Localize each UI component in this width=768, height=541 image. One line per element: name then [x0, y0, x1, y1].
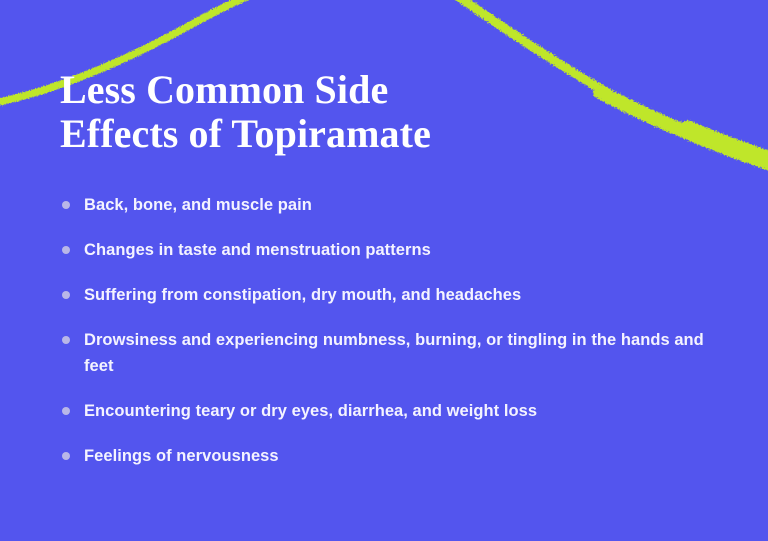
list-item: Drowsiness and experiencing numbness, bu… [58, 327, 718, 379]
list-item-label: Encountering teary or dry eyes, diarrhea… [84, 398, 718, 424]
bullet-dot-icon [62, 201, 70, 209]
list-item-label: Back, bone, and muscle pain [84, 192, 718, 218]
bullet-dot-icon [62, 246, 70, 254]
list-item: Suffering from constipation, dry mouth, … [58, 282, 718, 308]
list-item-label: Drowsiness and experiencing numbness, bu… [84, 327, 718, 379]
list-item: Encountering teary or dry eyes, diarrhea… [58, 398, 718, 424]
list-item-label: Changes in taste and menstruation patter… [84, 237, 718, 263]
bullet-dot-icon [62, 291, 70, 299]
list-item: Changes in taste and menstruation patter… [58, 237, 718, 263]
page-title: Less Common Side Effects of Topiramate [60, 68, 620, 156]
list-item: Back, bone, and muscle pain [58, 192, 718, 218]
list-item-label: Feelings of nervousness [84, 443, 718, 469]
bullet-dot-icon [62, 407, 70, 415]
list-item-label: Suffering from constipation, dry mouth, … [84, 282, 718, 308]
list-item: Feelings of nervousness [58, 443, 718, 469]
side-effects-list: Back, bone, and muscle pain Changes in t… [58, 192, 718, 469]
bullet-dot-icon [62, 336, 70, 344]
slide-canvas: Less Common Side Effects of Topiramate B… [0, 0, 768, 541]
bullet-dot-icon [62, 452, 70, 460]
